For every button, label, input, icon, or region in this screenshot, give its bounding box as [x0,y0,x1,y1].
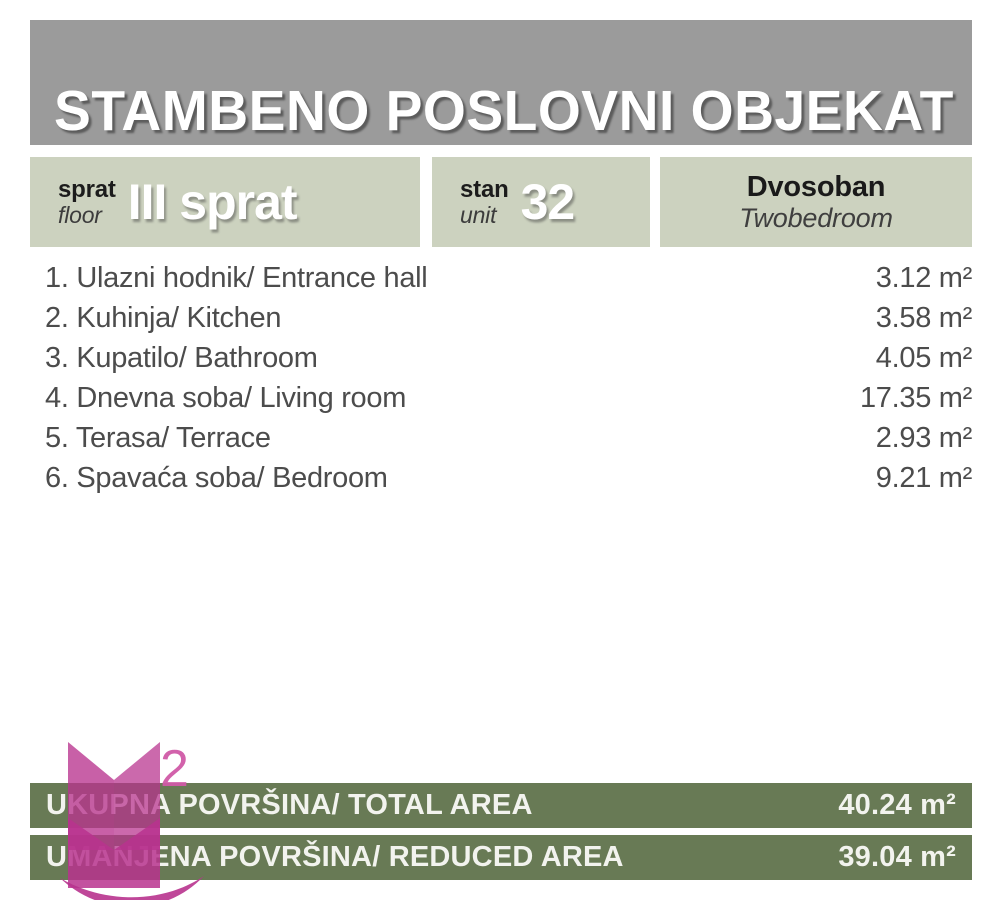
reduced-area-bar: UMANJENA POVRŠINA/ REDUCED AREA 39.04 m² [30,835,972,880]
unit-labels: stan unit [460,177,509,226]
page-title: STAMBENO POSLOVNI OBJEKAT [54,83,954,140]
room-row: 6. Spavaća soba/ Bedroom 9.21 m² [45,462,972,502]
room-name: 1. Ulazni hodnik/ Entrance hall [45,262,427,295]
unit-label-sr: stan [460,177,509,202]
room-list: 1. Ulazni hodnik/ Entrance hall 3.12 m² … [45,262,972,502]
room-area: 3.58 m² [876,302,972,335]
room-name: 4. Dnevna soba/ Living room [45,382,406,415]
total-area-value: 40.24 m² [838,789,956,822]
floor-value: III sprat [128,173,297,231]
unit-value: 32 [521,173,575,231]
total-area-bar: UKUPNA POVRŠINA/ TOTAL AREA 40.24 m² [30,783,972,828]
apartment-type-sr: Dvosoban [660,171,972,203]
unit-label-en: unit [460,203,509,227]
unit-info-box: stan unit 32 [432,157,650,247]
info-box-row: sprat floor III sprat stan unit 32 Dvoso… [30,157,972,247]
floor-label-en: floor [58,203,116,227]
room-name: 5. Terasa/ Terrace [45,422,271,455]
room-row: 2. Kuhinja/ Kitchen 3.58 m² [45,302,972,342]
floor-label-sr: sprat [58,177,116,202]
room-name: 2. Kuhinja/ Kitchen [45,302,281,335]
room-area: 3.12 m² [876,262,972,295]
room-area: 2.93 m² [876,422,972,455]
room-row: 1. Ulazni hodnik/ Entrance hall 3.12 m² [45,262,972,302]
apartment-type-box: Dvosoban Twobedroom [660,157,972,247]
floor-labels: sprat floor [58,177,116,226]
floorplan-legend-sheet: STAMBENO POSLOVNI OBJEKAT sprat floor II… [0,0,1003,900]
total-area-label: UKUPNA POVRŠINA/ TOTAL AREA [46,789,533,822]
room-row: 4. Dnevna soba/ Living room 17.35 m² [45,382,972,422]
reduced-area-value: 39.04 m² [838,841,956,874]
room-area: 4.05 m² [876,342,972,375]
floor-info-box: sprat floor III sprat [30,157,420,247]
room-name: 6. Spavaća soba/ Bedroom [45,462,388,495]
room-row: 5. Terasa/ Terrace 2.93 m² [45,422,972,462]
apartment-type-en: Twobedroom [660,203,972,233]
reduced-area-label: UMANJENA POVRŠINA/ REDUCED AREA [46,841,624,874]
title-bar: STAMBENO POSLOVNI OBJEKAT [30,20,972,145]
apartment-type-labels: Dvosoban Twobedroom [660,171,972,234]
room-row: 3. Kupatilo/ Bathroom 4.05 m² [45,342,972,382]
room-name: 3. Kupatilo/ Bathroom [45,342,318,375]
room-area: 17.35 m² [860,382,972,415]
room-area: 9.21 m² [876,462,972,495]
